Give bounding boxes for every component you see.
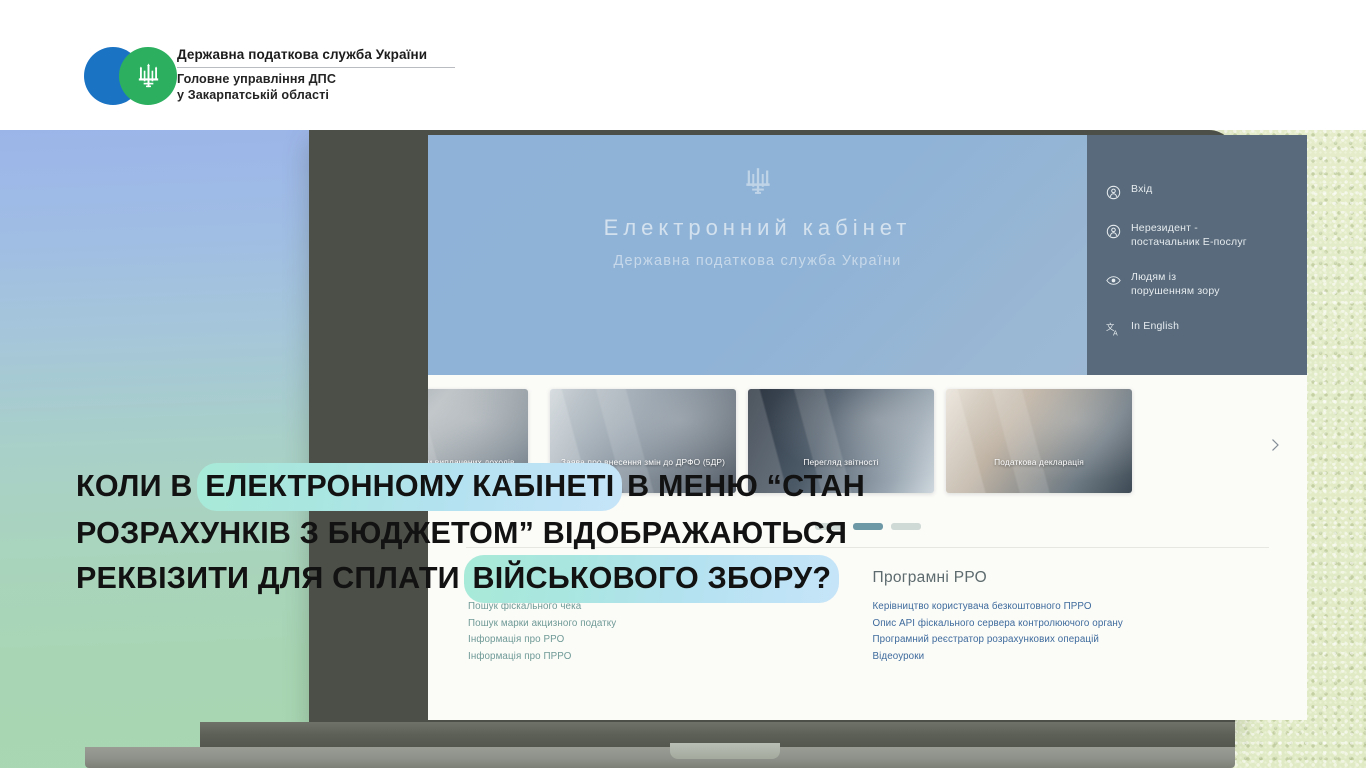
nav-label-part-b: порушенням зору	[1131, 285, 1220, 297]
login-user-icon	[1105, 223, 1121, 239]
brand-subtitle-line2: у Закарпатській області	[177, 88, 455, 104]
laptop-base-notch	[670, 743, 780, 759]
translate-icon: 文 A	[1105, 321, 1121, 337]
prro-link[interactable]: Програмний реєстратор розрахункових опер…	[873, 632, 1278, 649]
headline-line1-pre: КОЛИ В	[76, 469, 201, 503]
services-link[interactable]: Інформація про ПРРО	[468, 649, 873, 666]
brand-title: Державна податкова служба України	[177, 47, 455, 63]
dps-cabinet-site: Електронний кабінет Державна податкова с…	[428, 135, 1307, 720]
site-nav-list: Вхід	[1105, 183, 1295, 359]
nav-item-nonresident[interactable]: Нерезидент - постачальник Е-послуг	[1105, 222, 1295, 249]
services-link[interactable]: Інформація про РРО	[468, 632, 873, 649]
login-user-icon	[1105, 184, 1121, 200]
nav-item-english-label: In English	[1131, 320, 1179, 334]
prro-link[interactable]: Опис API фіскального сервера контролюючо…	[873, 616, 1278, 633]
nav-item-accessibility-label: Людям із порушенням зору	[1131, 271, 1220, 298]
headline-line1-post: В МЕНЮ “СТАН	[618, 469, 865, 503]
prro-link[interactable]: Відеоуроки	[873, 649, 1278, 666]
brand-logo-block: Державна податкова служба України Головн…	[84, 45, 455, 107]
brand-subtitle-line1: Головне управління ДПС	[177, 72, 455, 88]
nav-item-login-label: Вхід	[1131, 183, 1152, 197]
site-hero-emblem	[428, 163, 1087, 199]
logo-marks	[84, 45, 177, 107]
headline-line-3: РЕКВІЗИТИ ДЛЯ СПЛАТИ ВІЙСЬКОВОГО ЗБОРУ?	[76, 555, 1086, 603]
nav-item-accessibility[interactable]: Людям із порушенням зору	[1105, 271, 1295, 298]
laptop-screen: Електронний кабінет Державна податкова с…	[428, 135, 1307, 720]
headline-highlight-1: ЕЛЕКТРОННОМУ КАБІНЕТІ	[197, 463, 622, 511]
page-header: Державна податкова служба України Головн…	[0, 0, 1366, 130]
laptop-base-lower	[85, 747, 1235, 768]
nav-label-part-a: Людям із	[1131, 271, 1176, 283]
headline-line3-pre: РЕКВІЗИТИ ДЛЯ СПЛАТИ	[76, 561, 468, 595]
laptop-mockup: Електронний кабінет Державна податкова с…	[200, 130, 1235, 768]
nav-item-english[interactable]: 文 A In English	[1105, 320, 1295, 337]
site-hero-title: Електронний кабінет	[428, 215, 1087, 241]
hero-stage: Електронний кабінет Державна податкова с…	[0, 130, 1366, 768]
site-hero-subtitle: Державна податкова служба України	[428, 253, 1087, 269]
site-side-panel: Вхід	[1087, 135, 1307, 375]
brand-text: Державна податкова служба України Головн…	[177, 45, 455, 103]
nav-label-part-b: постачальник Е-послуг	[1131, 236, 1247, 248]
trident-emblem-icon	[136, 62, 161, 91]
services-link[interactable]: Пошук марки акцизного податку	[468, 616, 873, 633]
svg-text:A: A	[1112, 330, 1117, 337]
page-title: КОЛИ В ЕЛЕКТРОННОМУ КАБІНЕТІ В МЕНЮ “СТА…	[76, 463, 1086, 603]
chevron-right-icon[interactable]	[1267, 437, 1283, 453]
nav-label-part-a: Нерезидент -	[1131, 222, 1198, 234]
nav-item-login[interactable]: Вхід	[1105, 183, 1295, 200]
headline-line-2: РОЗРАХУНКІВ З БЮДЖЕТОМ” ВІДОБРАЖАЮТЬСЯ	[76, 511, 1086, 555]
laptop-lid: Електронний кабінет Державна податкова с…	[309, 130, 1235, 730]
nav-item-nonresident-label: Нерезидент - постачальник Е-послуг	[1131, 222, 1247, 249]
headline-highlight-1-text: ЕЛЕКТРОННОМУ КАБІНЕТІ	[205, 469, 614, 503]
headline-highlight-2-text: ВІЙСЬКОВОГО ЗБОРУ?	[472, 561, 831, 595]
headline-line-1: КОЛИ В ЕЛЕКТРОННОМУ КАБІНЕТІ В МЕНЮ “СТА…	[76, 463, 1086, 511]
brand-divider	[177, 67, 455, 68]
eye-accessibility-icon	[1105, 272, 1121, 288]
headline-highlight-2: ВІЙСЬКОВОГО ЗБОРУ?	[464, 555, 839, 603]
